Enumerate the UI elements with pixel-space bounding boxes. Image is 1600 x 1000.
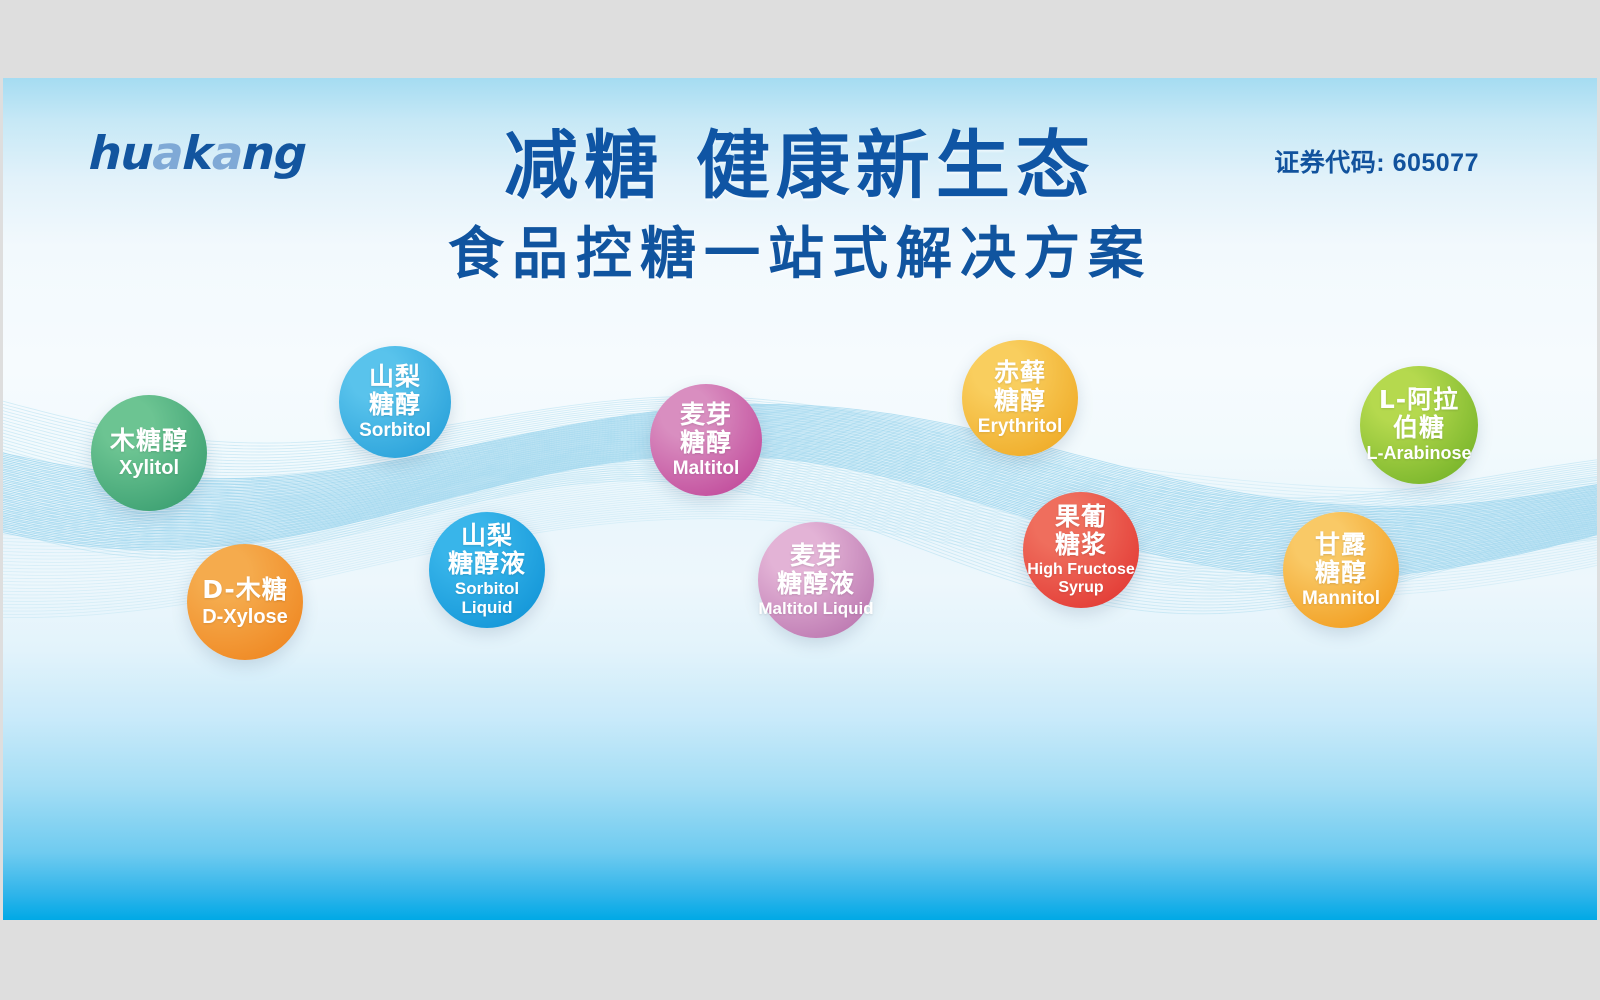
product-name-en: Maltitol	[673, 459, 740, 480]
wave-line	[3, 416, 1597, 523]
product-name-en: L-Arabinose	[1366, 444, 1471, 464]
product-name-cn-line: 糖醇	[1315, 559, 1367, 587]
product-bubble-maltitol-liquid[interactable]: 麦芽糖醇液Maltitol Liquid	[758, 522, 874, 638]
product-name-en-line: Xylitol	[119, 457, 179, 479]
product-name-cn-line: 糖醇	[369, 391, 421, 419]
wave-line	[3, 396, 1597, 504]
wave-line	[3, 449, 1597, 524]
wave-line	[3, 409, 1597, 513]
product-name-en-line: D-Xylose	[202, 606, 288, 628]
product-name-cn-line: 赤藓	[994, 359, 1046, 387]
product-name-cn-line: 山梨	[369, 363, 421, 391]
product-name-en-line: Mannitol	[1302, 589, 1380, 610]
product-bubble-sorbitol-liquid[interactable]: 山梨糖醇液Sorbitol Liquid	[429, 512, 545, 628]
product-name-en: Sorbitol Liquid	[429, 580, 545, 617]
product-name-cn-line: L-阿拉	[1379, 386, 1459, 414]
product-name-cn: 山梨糖醇	[369, 363, 421, 419]
product-name-cn-line: 糖浆	[1055, 531, 1107, 559]
product-name-en-line: Maltitol	[673, 459, 740, 480]
product-name-cn-line: 甘露	[1315, 531, 1367, 559]
page-title: 减糖 健康新生态	[3, 128, 1597, 206]
wave-line	[3, 410, 1597, 515]
product-name-cn: 赤藓糖醇	[994, 359, 1046, 415]
product-name-en-line: Syrup	[1027, 579, 1135, 597]
product-name-cn-line: 糖醇液	[448, 550, 526, 578]
product-name-cn: D-木糖	[202, 576, 288, 604]
wave-line	[3, 412, 1597, 518]
product-bubble-sorbitol[interactable]: 山梨糖醇Sorbitol	[339, 346, 451, 458]
wave-line	[3, 415, 1597, 522]
product-name-en-line: L-Arabinose	[1366, 444, 1471, 464]
wave-line	[3, 419, 1597, 527]
wave-line	[3, 393, 1597, 501]
wave-line	[3, 399, 1597, 507]
product-name-cn-line: 糖醇	[994, 387, 1046, 415]
wave-line	[3, 447, 1597, 521]
wave-line	[3, 407, 1597, 510]
product-name-en: Erythritol	[978, 417, 1062, 438]
product-name-cn-line: 糖醇液	[777, 570, 855, 598]
product-name-en: Mannitol	[1302, 589, 1380, 610]
product-bubble-erythritol[interactable]: 赤藓糖醇Erythritol	[962, 340, 1078, 456]
product-name-en: D-Xylose	[202, 606, 288, 628]
product-name-cn: 麦芽糖醇液	[777, 542, 855, 598]
product-name-cn: 甘露糖醇	[1315, 531, 1367, 587]
product-name-cn: L-阿拉伯糖	[1379, 386, 1459, 442]
product-name-cn-line: 糖醇	[680, 429, 732, 457]
wave-line	[3, 414, 1597, 522]
wave-line	[3, 444, 1597, 517]
product-name-cn-line: 伯糖	[1379, 414, 1459, 442]
product-bubble-high-fructose-syrup[interactable]: 果葡糖浆High FructoseSyrup	[1023, 492, 1139, 608]
product-name-cn-line: 果葡	[1055, 503, 1107, 531]
wave-line	[3, 412, 1597, 519]
wave-line	[3, 417, 1597, 524]
product-name-cn-line: 麦芽	[680, 401, 732, 429]
poster-canvas: huakang 证券代码: 605077 减糖 健康新生态 食品控糖一站式解决方…	[3, 78, 1597, 920]
product-name-cn-line: 山梨	[448, 522, 526, 550]
product-name-en: Sorbitol	[359, 421, 431, 442]
product-name-cn-line: 麦芽	[777, 542, 855, 570]
product-bubble-l-arabinose[interactable]: L-阿拉伯糖L-Arabinose	[1360, 366, 1478, 484]
product-name-en: Maltitol Liquid	[758, 600, 873, 619]
product-name-cn-line: D-木糖	[202, 576, 288, 604]
product-name-en: High FructoseSyrup	[1027, 561, 1135, 596]
wave-line	[3, 413, 1597, 519]
wave-line	[3, 404, 1597, 507]
product-name-cn: 山梨糖醇液	[448, 522, 526, 578]
product-name-cn: 麦芽糖醇	[680, 401, 732, 457]
wave-line	[3, 390, 1597, 498]
wave-line	[3, 411, 1597, 516]
product-name-cn: 木糖醇	[110, 427, 188, 455]
product-name-en: Xylitol	[119, 457, 179, 479]
product-bubble-d-xylose[interactable]: D-木糖D-Xylose	[187, 544, 303, 660]
product-name-en-line: Sorbitol Liquid	[429, 580, 545, 617]
wave-line	[3, 420, 1597, 529]
page-subtitle: 食品控糖一站式解决方案	[3, 226, 1597, 285]
wave-line	[3, 416, 1597, 525]
product-name-en-line: Erythritol	[978, 417, 1062, 438]
wave-line	[3, 408, 1597, 512]
product-bubble-maltitol[interactable]: 麦芽糖醇Maltitol	[650, 384, 762, 496]
wave-line	[3, 403, 1597, 511]
wave-line	[3, 418, 1597, 528]
product-name-en-line: High Fructose	[1027, 561, 1135, 579]
product-bubble-mannitol[interactable]: 甘露糖醇Mannitol	[1283, 512, 1399, 628]
product-name-en-line: Sorbitol	[359, 421, 431, 442]
wave-line	[3, 406, 1597, 513]
product-name-cn-line: 木糖醇	[110, 427, 188, 455]
wave-line	[3, 439, 1597, 510]
product-name-cn: 果葡糖浆	[1055, 503, 1107, 559]
wave-line	[3, 409, 1597, 516]
wave-line	[3, 442, 1597, 514]
product-name-en-line: Maltitol Liquid	[758, 600, 873, 619]
wave-line	[3, 418, 1597, 526]
product-bubble-xylitol[interactable]: 木糖醇Xylitol	[91, 395, 207, 511]
wave-line	[3, 406, 1597, 509]
